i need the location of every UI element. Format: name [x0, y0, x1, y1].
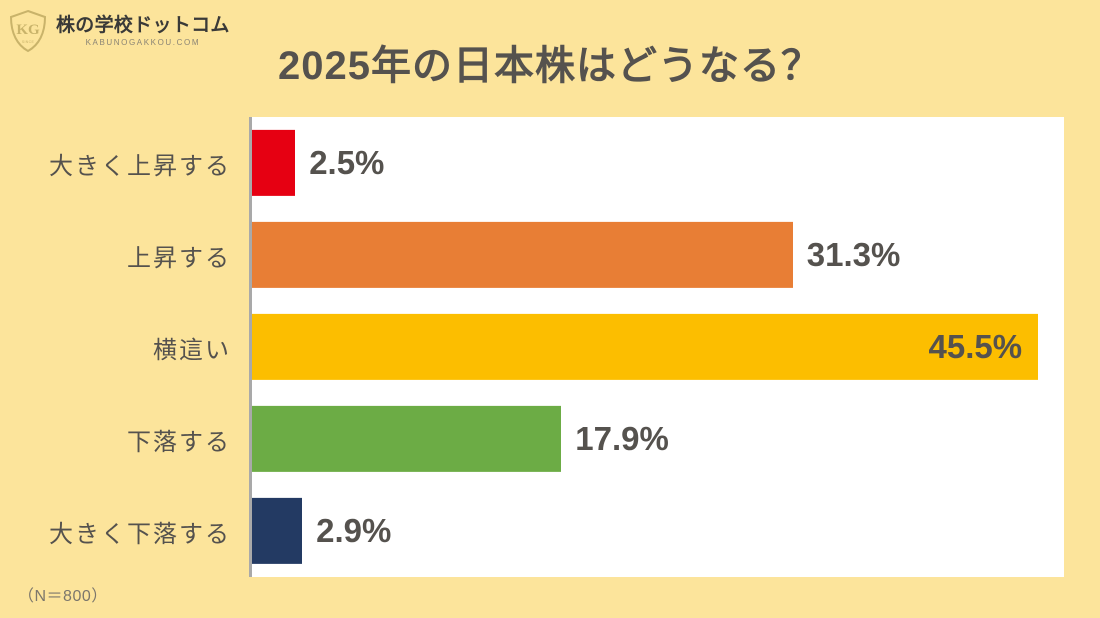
bar-wrap: 2.9% [252, 498, 391, 564]
category-row: 下落する [0, 393, 231, 485]
bar-value-label: 2.9% [302, 512, 391, 550]
bar-row: 17.9% [249, 393, 1064, 485]
bar-row: 45.5% [249, 301, 1064, 393]
category-label: 大きく下落する [49, 514, 231, 549]
bar-value-label: 17.9% [561, 420, 669, 458]
bar-row: 2.9% [249, 485, 1064, 577]
bar [252, 130, 295, 196]
category-label: 下落する [127, 422, 231, 457]
bar-row: 2.5% [249, 117, 1064, 209]
bar: 45.5% [252, 314, 1038, 380]
category-label: 横這い [153, 330, 231, 365]
sample-size-note: （N＝800） [18, 582, 108, 606]
brand-name: 株の学校ドットコム [56, 16, 230, 35]
bar [252, 406, 561, 472]
bar [252, 222, 793, 288]
bar-row: 31.3% [249, 209, 1064, 301]
bar-wrap: 17.9% [252, 406, 669, 472]
category-row: 大きく上昇する [0, 117, 231, 209]
bar-value-label: 2.5% [295, 144, 384, 182]
bar-value-label: 31.3% [793, 236, 901, 274]
chart-plot-area: 2.5% 31.3% 45.5% [249, 117, 1064, 577]
category-row: 大きく下落する [0, 485, 231, 577]
category-row: 横這い [0, 301, 231, 393]
bar [252, 498, 302, 564]
chart-title: 2025年の日本株はどうなる？ [0, 33, 1100, 91]
bar-series: 2.5% 31.3% 45.5% [249, 117, 1064, 577]
bar-wrap: 45.5% [252, 314, 1052, 380]
bar-wrap: 2.5% [252, 130, 384, 196]
category-axis: 大きく上昇する 上昇する 横這い 下落する 大きく下落する [0, 117, 231, 577]
category-label: 大きく上昇する [49, 146, 231, 181]
bar-wrap: 31.3% [252, 222, 900, 288]
bar-value-label-inside: 45.5% [929, 328, 1039, 366]
category-row: 上昇する [0, 209, 231, 301]
category-label: 上昇する [127, 238, 231, 273]
